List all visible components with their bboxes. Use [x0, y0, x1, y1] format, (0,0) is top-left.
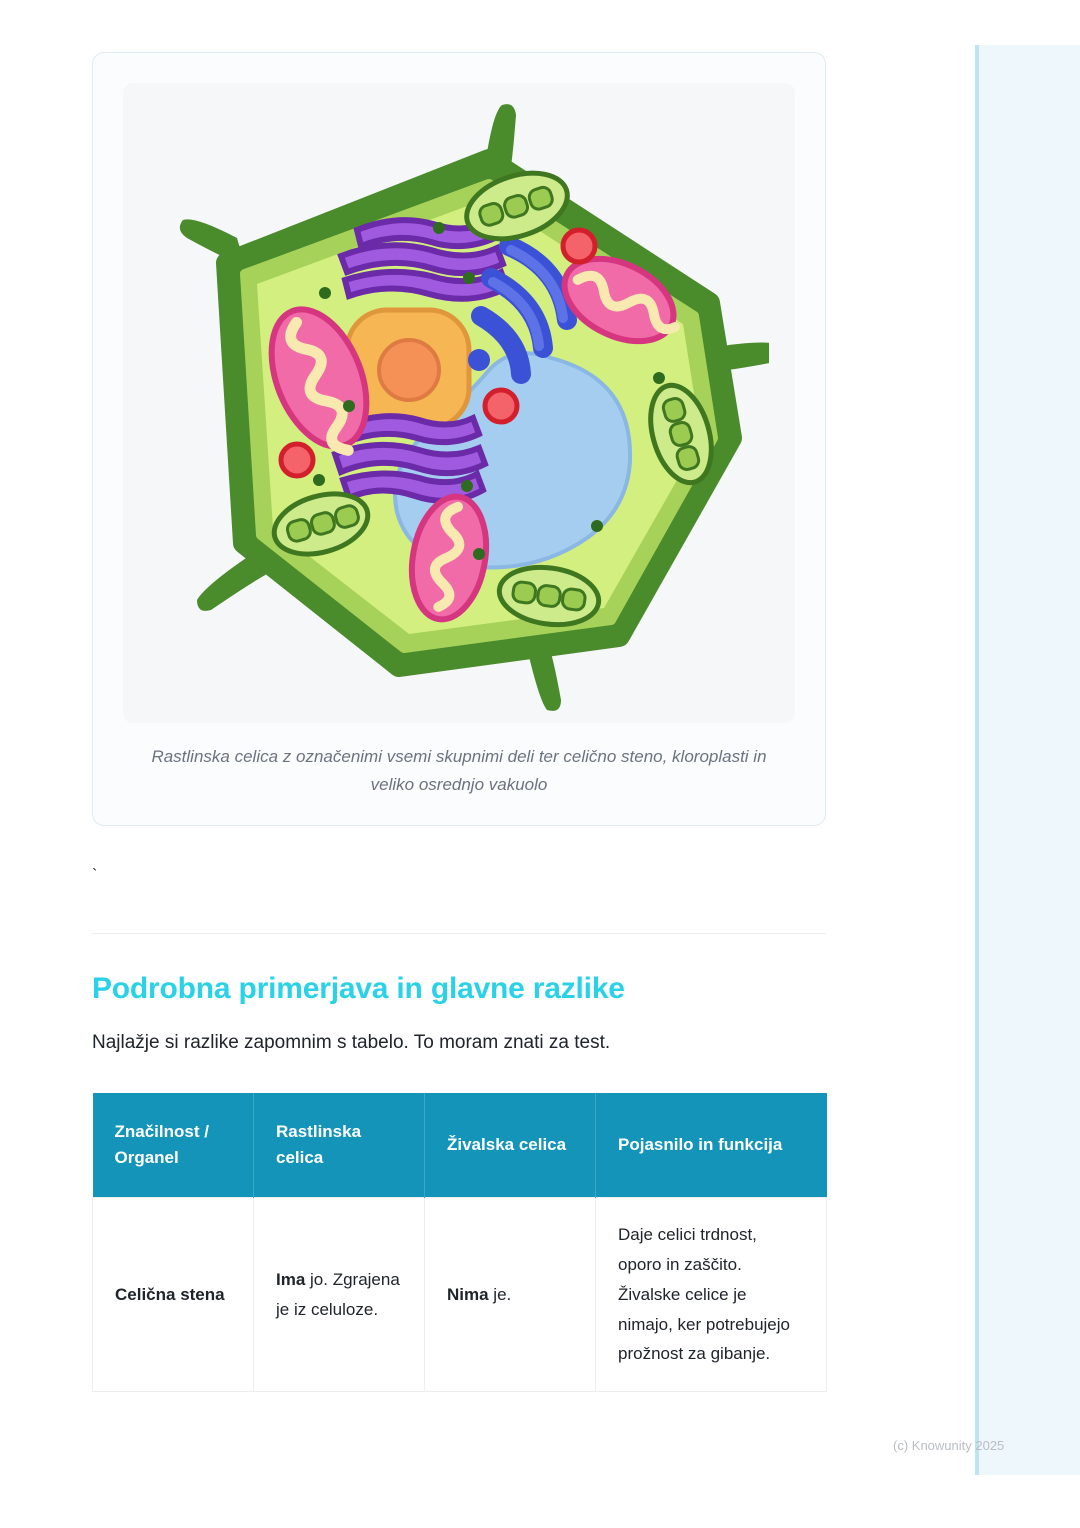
document-content: Rastlinska celica z označenimi vsemi sku… [92, 0, 826, 1392]
right-scroll-rail[interactable] [975, 45, 1080, 1475]
table-header-row: Značilnost / Organel Rastlinska celica Ž… [93, 1093, 827, 1198]
cell-animal-strong: Nima [447, 1285, 489, 1304]
document-page: Rastlinska celica z označenimi vsemi sku… [0, 0, 1080, 1528]
figure-card: Rastlinska celica z označenimi vsemi sku… [92, 52, 826, 826]
section-intro-text: Najlažje si razlike zapomnim s tabelo. T… [92, 1029, 826, 1058]
copyright-watermark: (c) Knowunity 2025 [893, 1438, 1004, 1453]
table-header-animal: Živalska celica [425, 1093, 596, 1198]
cell-plant: Ima jo. Zgrajena je iz celuloze. [254, 1198, 425, 1392]
cell-animal: Nima je. [425, 1198, 596, 1392]
section-divider [92, 933, 826, 934]
table-row: Celična stena Ima jo. Zgrajena je iz cel… [93, 1198, 827, 1392]
table-header-plant: Rastlinska celica [254, 1093, 425, 1198]
cell-feature-label: Celična stena [115, 1285, 225, 1304]
cell-feature: Celična stena [93, 1198, 254, 1392]
plant-cell-diagram [123, 83, 795, 723]
table-header-explanation: Pojasnilo in funkcija [596, 1093, 827, 1198]
table-header-feature: Značilnost / Organel [93, 1093, 254, 1198]
cell-animal-rest: je. [489, 1285, 512, 1304]
cell-plant-strong: Ima [276, 1270, 305, 1289]
cell-explanation: Daje celici trdnost, oporo in zaščito. Ž… [596, 1198, 827, 1392]
comparison-table: Značilnost / Organel Rastlinska celica Ž… [92, 1093, 827, 1392]
section-heading: Podrobna primerjava in glavne razlike [92, 972, 826, 1006]
figure-caption: Rastlinska celica z označenimi vsemi sku… [123, 743, 795, 799]
stray-backtick: ` [92, 868, 826, 888]
